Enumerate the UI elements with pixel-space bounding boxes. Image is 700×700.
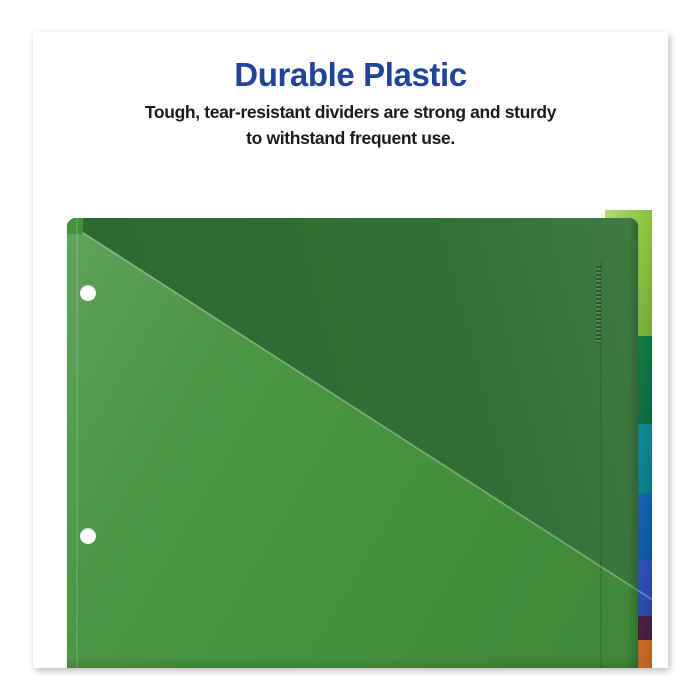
subtitle-line-2: to withstand frequent use. [246, 128, 455, 148]
page-title: Durable Plastic [33, 56, 668, 94]
subtitle: Tough, tear-resistant dividers are stron… [55, 99, 646, 151]
perforated-edge [596, 266, 601, 343]
product-photo [33, 172, 668, 668]
pocket-corner [67, 218, 83, 234]
subtitle-line-1: Tough, tear-resistant dividers are stron… [145, 102, 556, 122]
product-feature-image: Durable Plastic Tough, tear-resistant di… [0, 0, 700, 700]
sheet-right-shadow [627, 218, 638, 668]
sheet-bottom-shadow [67, 658, 638, 668]
left-fold-line [76, 218, 78, 668]
product-card: Durable Plastic Tough, tear-resistant di… [33, 32, 668, 668]
binder-hole-bottom [80, 528, 96, 544]
divider-sheet [67, 218, 638, 668]
binder-hole-top [80, 285, 96, 301]
